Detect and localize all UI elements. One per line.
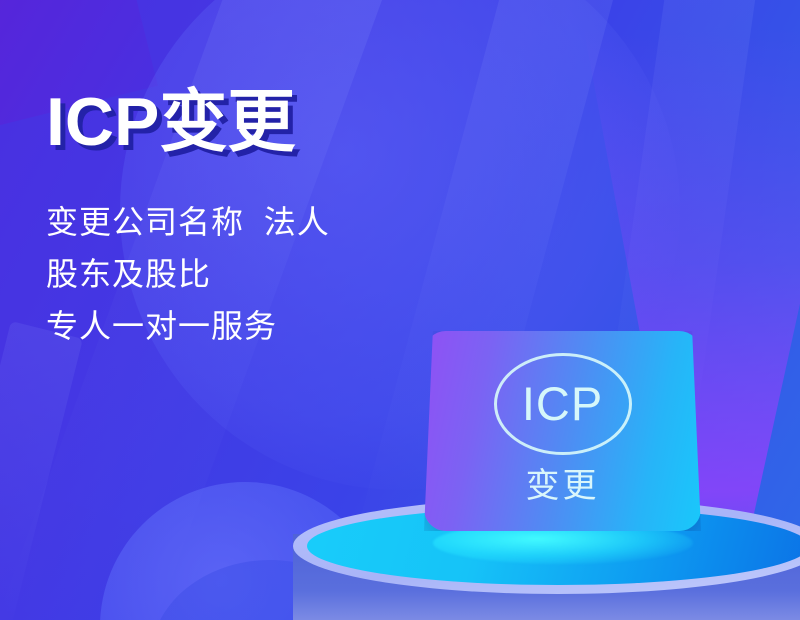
text-block: ICP变更 变更公司名称 法人 股东及股比 专人一对一服务 [46,88,446,353]
subtitle-line-2: 股东及股比 [46,249,446,301]
icp-badge-label: ICP [522,380,603,427]
subtitle-group: 变更公司名称 法人 股东及股比 专人一对一服务 [46,157,446,352]
subtitle-line-3: 专人一对一服务 [46,301,446,353]
page-title: ICP变更 [46,88,446,157]
promo-banner: ICP 变更 ICP变更 变更公司名称 法人 股东及股比 专人一对一服务 [0,0,800,620]
icp-badge-ellipse-icon: ICP [494,353,632,455]
light-beam-left [0,321,83,620]
icp-card: ICP 变更 [424,331,701,531]
icp-card-caption: 变更 [526,469,600,503]
subtitle-line-1: 变更公司名称 法人 [46,197,446,249]
icp-card-content: ICP 变更 [424,331,701,531]
